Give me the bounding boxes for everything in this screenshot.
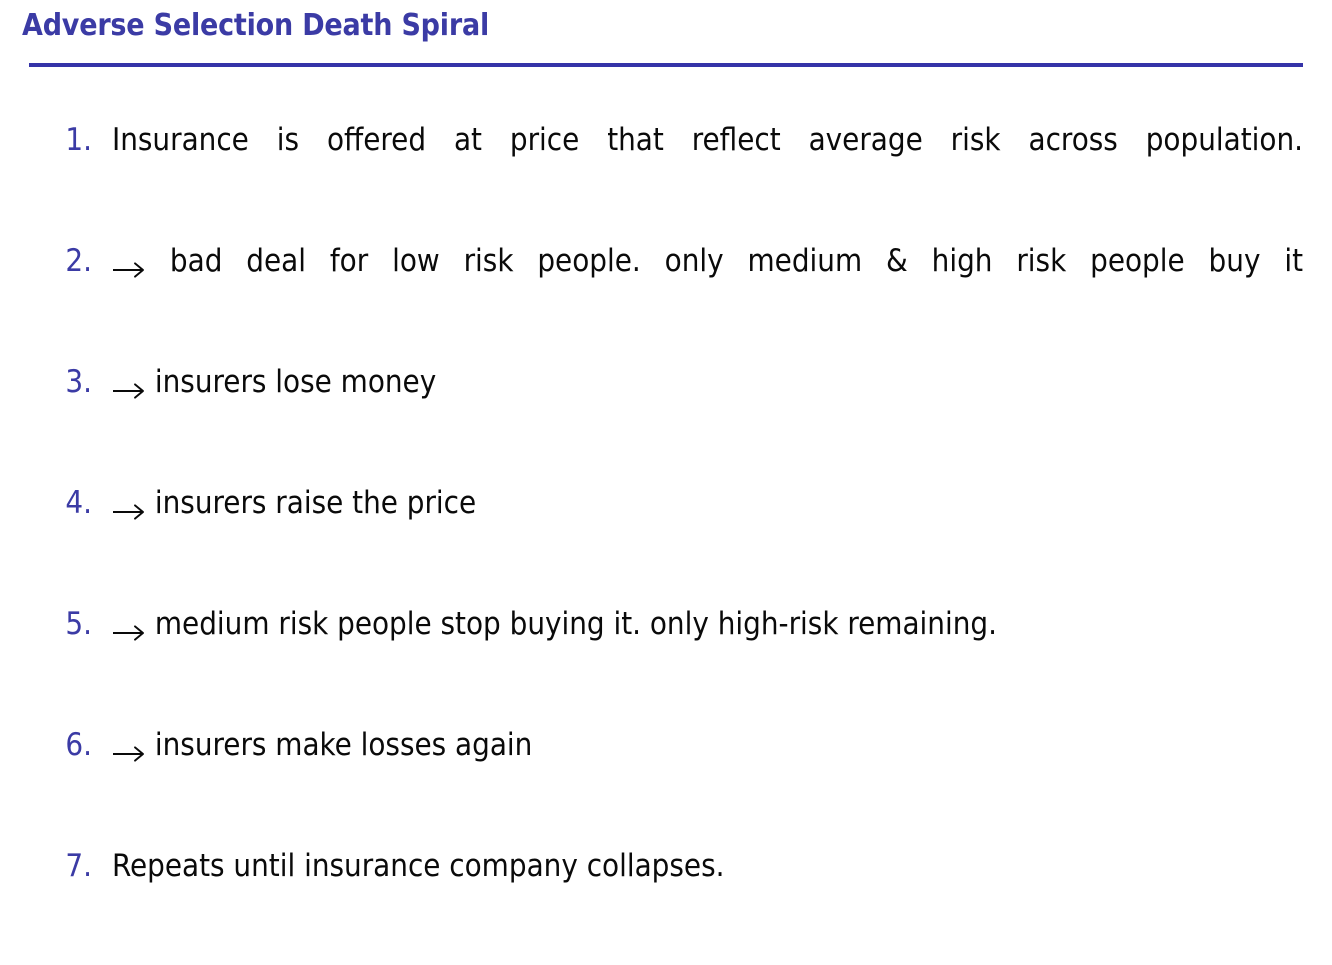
- list-item-body: medium risk people stop buying it. only …: [112, 602, 1303, 646]
- right-arrow-icon: [112, 360, 146, 404]
- page-title: Adverse Selection Death Spiral: [22, 8, 489, 43]
- list-item-number: 7.: [52, 844, 92, 888]
- list-item: 2. bad deal for low risk people. only me…: [0, 239, 1332, 360]
- list-item-number: 2.: [52, 239, 92, 283]
- list-item: 4. insurers raise the price: [0, 481, 1332, 602]
- list-item-number: 6.: [52, 723, 92, 767]
- list-item-text: insurers make losses again: [155, 727, 533, 763]
- right-arrow-icon: [112, 723, 146, 767]
- list-item-number: 1.: [52, 118, 92, 162]
- list-item-text: bad deal for low risk people. only mediu…: [170, 243, 1303, 279]
- list-item-body: insurers make losses again: [112, 723, 1303, 767]
- enumerated-list: 1. Insurance is offered at price that re…: [0, 118, 1332, 965]
- list-item: 7. Repeats until insurance company colla…: [0, 844, 1332, 965]
- right-arrow-icon: [112, 481, 146, 525]
- list-item-text: insurers lose money: [155, 364, 436, 400]
- list-item-body: Insurance is offered at price that refle…: [112, 118, 1303, 162]
- list-item-body: insurers lose money: [112, 360, 1303, 404]
- list-item-text: medium risk people stop buying it. only …: [155, 606, 997, 642]
- list-item-body: bad deal for low risk people. only mediu…: [112, 239, 1303, 283]
- list-item: 5. medium risk people stop buying it. on…: [0, 602, 1332, 723]
- list-item-body: Repeats until insurance company collapse…: [112, 844, 1303, 888]
- right-arrow-icon: [112, 239, 146, 283]
- list-item-text: Repeats until insurance company collapse…: [112, 848, 724, 884]
- list-item: 6. insurers make losses again: [0, 723, 1332, 844]
- list-item-body: insurers raise the price: [112, 481, 1303, 525]
- list-item: 1. Insurance is offered at price that re…: [0, 118, 1332, 239]
- slide-canvas: Adverse Selection Death Spiral 1. Insura…: [0, 0, 1332, 936]
- right-arrow-icon: [112, 602, 146, 646]
- list-item-text: insurers raise the price: [155, 485, 476, 521]
- title-divider: [29, 63, 1303, 67]
- list-item-number: 5.: [52, 602, 92, 646]
- list-item-number: 4.: [52, 481, 92, 525]
- list-item-text: Insurance is offered at price that refle…: [112, 122, 1303, 158]
- list-item: 3. insurers lose money: [0, 360, 1332, 481]
- list-item-number: 3.: [52, 360, 92, 404]
